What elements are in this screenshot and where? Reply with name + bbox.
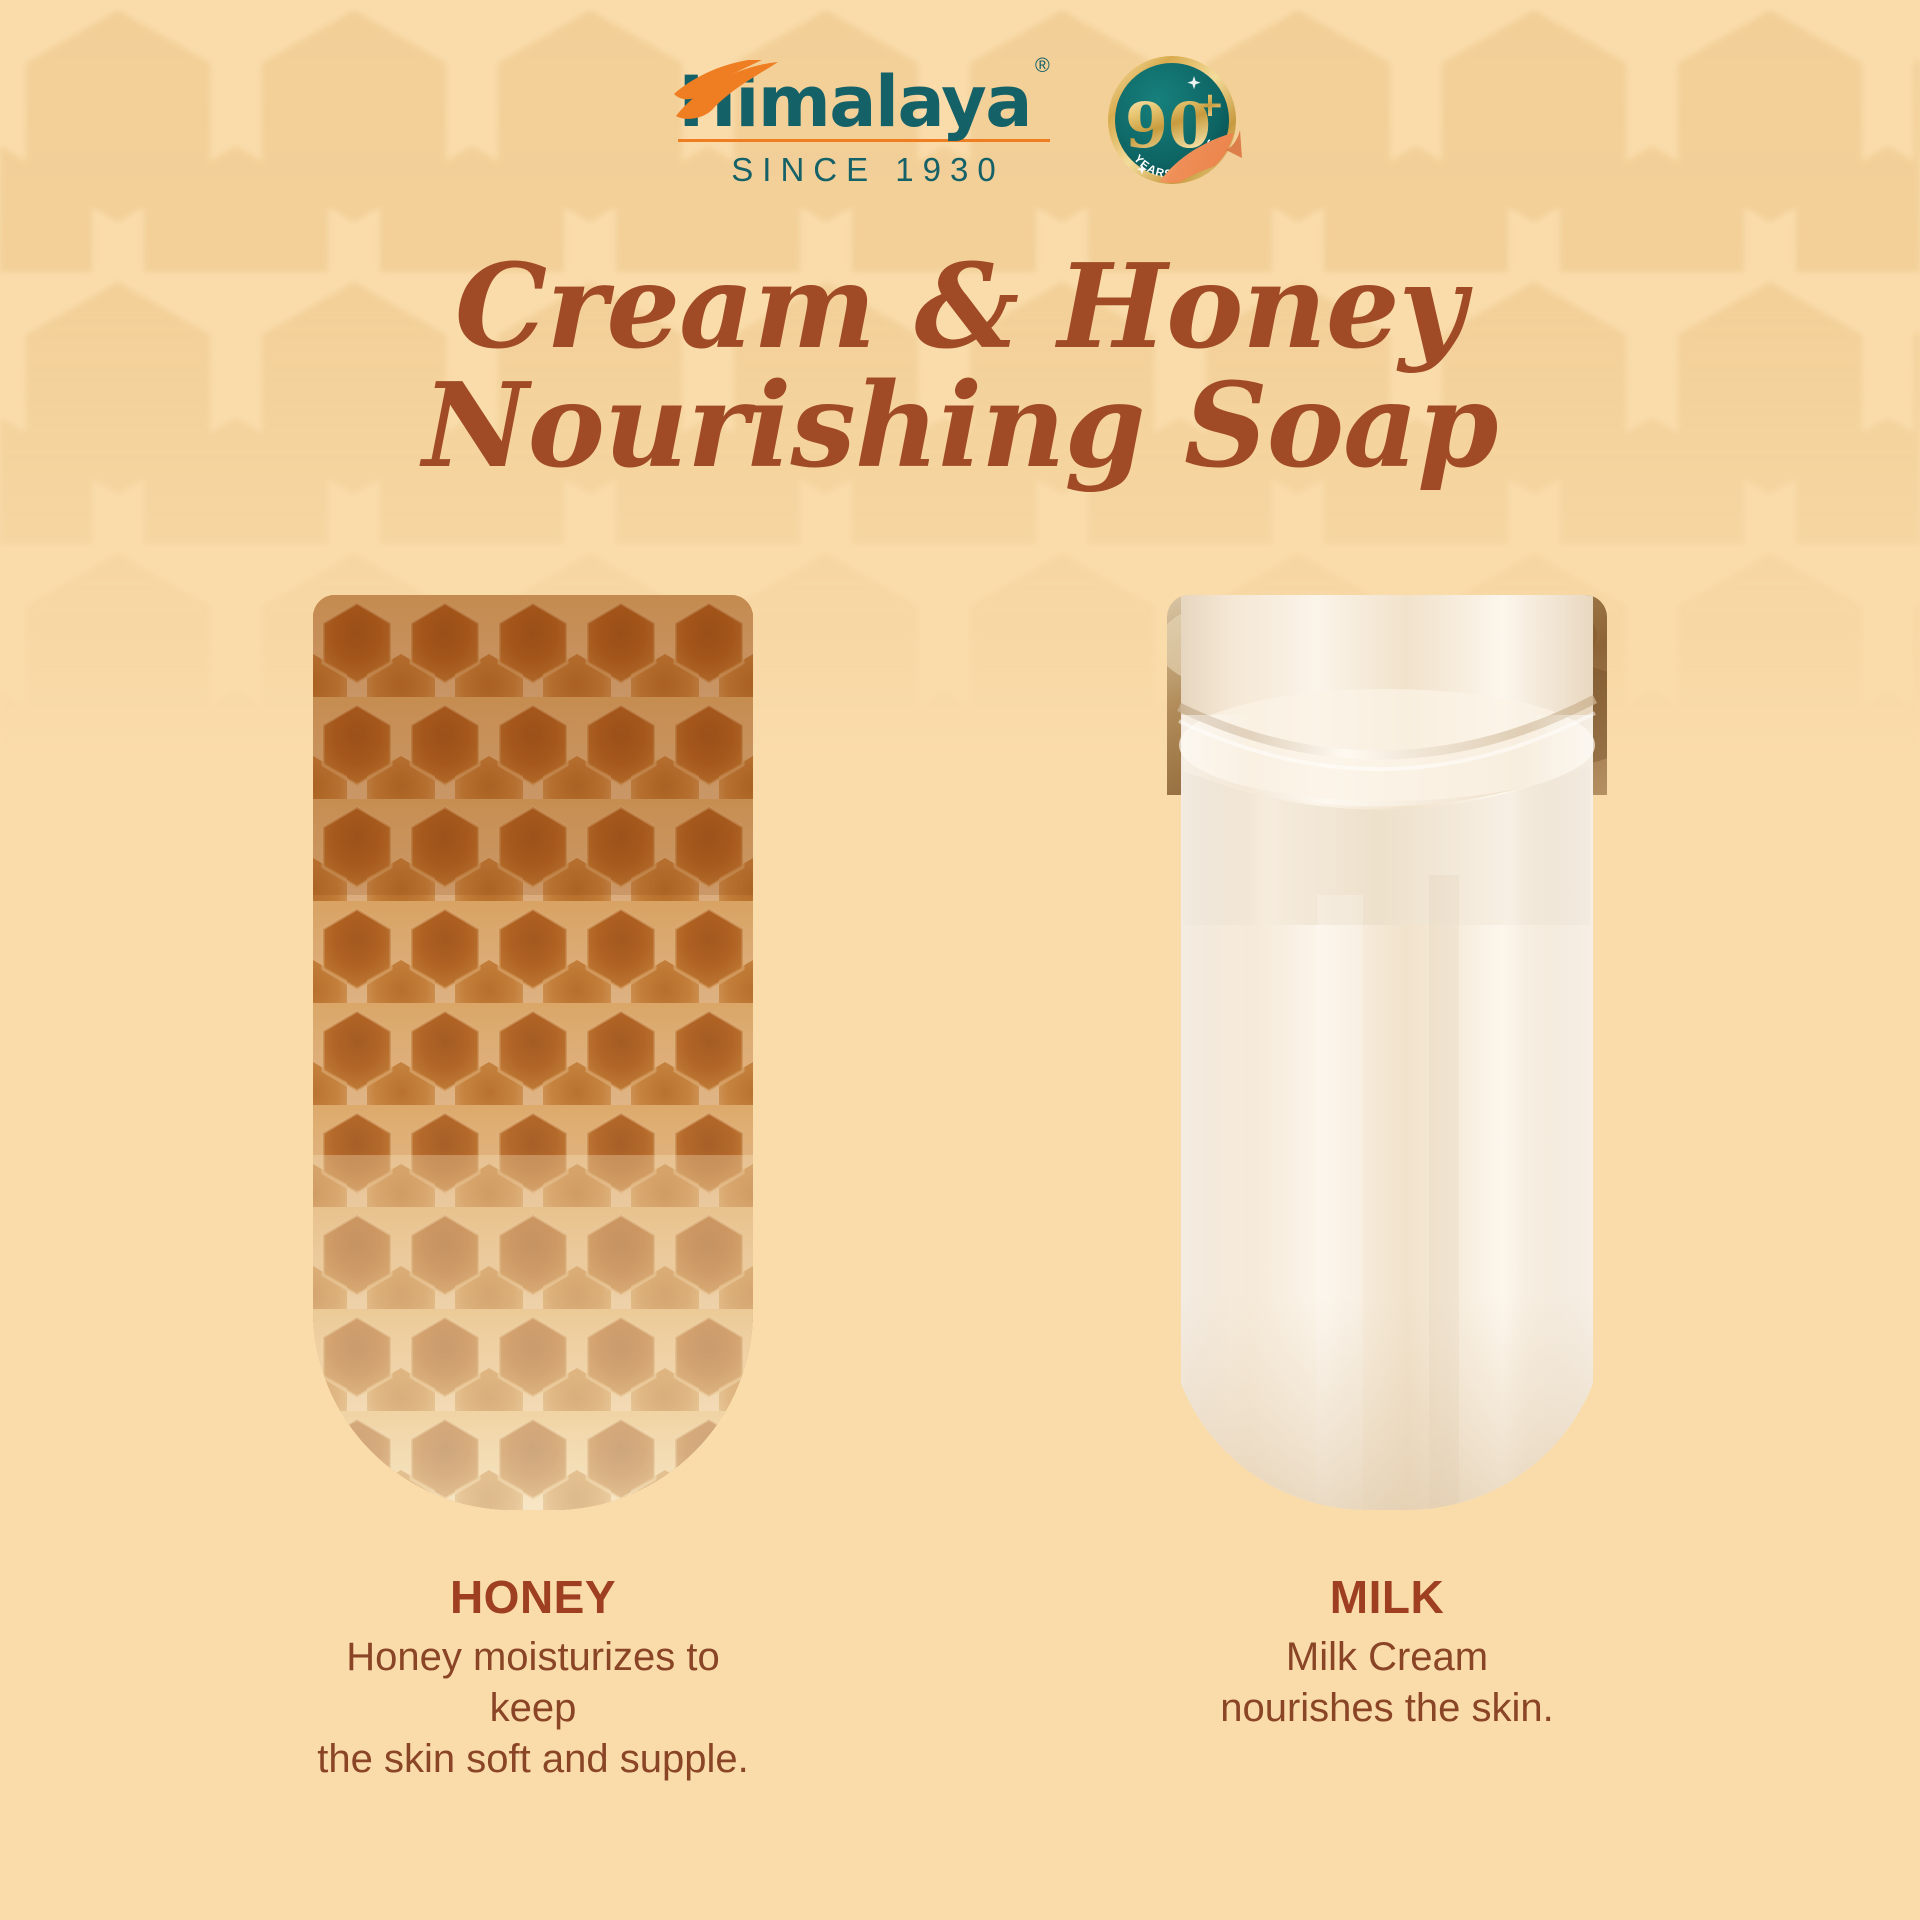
logo-wordmark: Himalaya ® [678, 56, 1049, 134]
ingredient-description-milk: Milk Cream nourishes the skin. [1167, 1632, 1607, 1734]
milk-image-content [1167, 595, 1607, 1510]
honeycomb-photo [313, 595, 753, 1510]
honey-desc-line-2: the skin soft and supple. [313, 1734, 753, 1785]
ingredient-panels: HONEY Honey moisturizes to keep the skin… [0, 595, 1920, 1786]
registered-trademark-icon: ® [1035, 56, 1050, 76]
himalaya-logo[interactable]: Himalaya ® SINCE 1930 [678, 52, 1049, 189]
ingredient-label-milk: MILK [1167, 1570, 1607, 1624]
poster-canvas: Himalaya ® SINCE 1930 [0, 0, 1920, 1920]
honeycomb-image-content [313, 595, 753, 1510]
logo-tagline: SINCE 1930 [678, 151, 1049, 189]
product-title-line-1: Cream & Honey [455, 239, 1465, 375]
ingredient-card-milk: MILK Milk Cream nourishes the skin. [1167, 595, 1607, 1786]
ingredient-description-honey: Honey moisturizes to keep the skin soft … [313, 1632, 753, 1786]
glass-of-milk-photo [1167, 595, 1607, 1510]
milk-desc-line-1: Milk Cream [1167, 1632, 1607, 1683]
svg-text:+: + [1195, 85, 1224, 125]
brand-header: Himalaya ® SINCE 1930 [0, 52, 1920, 204]
caption-milk: MILK Milk Cream nourishes the skin. [1167, 1570, 1607, 1734]
ingredient-card-honey: HONEY Honey moisturizes to keep the skin… [313, 595, 753, 1786]
product-title: Cream & Honey Nourishing Soap [0, 248, 1920, 487]
caption-honey: HONEY Honey moisturizes to keep the skin… [313, 1570, 753, 1786]
brand-name: Himalaya [678, 70, 1031, 134]
ingredient-label-honey: HONEY [313, 1570, 753, 1624]
product-title-line-2: Nourishing Soap [0, 367, 1920, 486]
years-of-trust-badge: 90 + YEARS OF TRUST [1106, 54, 1242, 204]
milk-desc-line-2: nourishes the skin. [1167, 1683, 1607, 1734]
honey-desc-line-1: Honey moisturizes to keep [313, 1632, 753, 1734]
